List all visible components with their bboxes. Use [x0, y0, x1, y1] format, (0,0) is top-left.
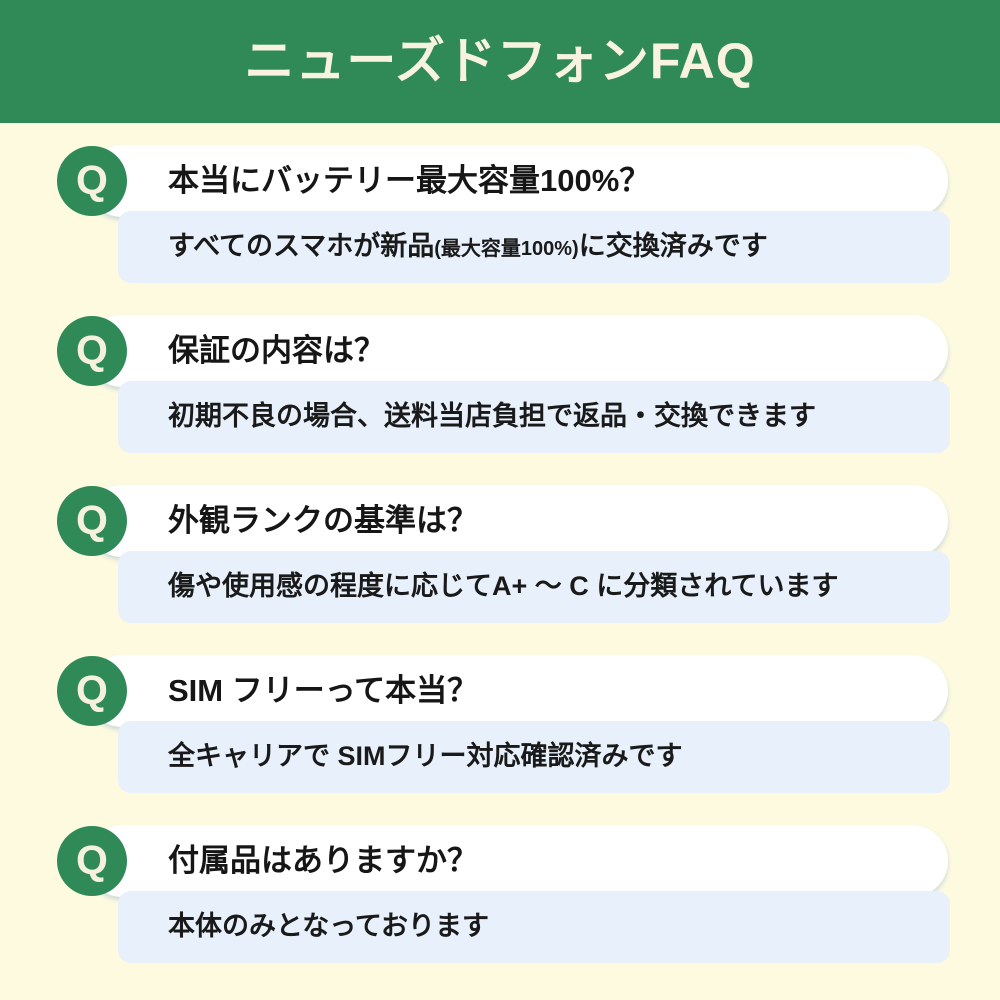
question-text: 本当にバッテリー最大容量100%？	[168, 164, 650, 198]
question-badge-icon: Q	[57, 146, 127, 216]
question-badge-letter: Q	[76, 160, 108, 201]
faq-item[interactable]: 本体のみとなっております付属品はありますか？Q	[0, 803, 1000, 973]
page-header: ニューズドフォンFAQ	[0, 0, 1000, 123]
faq-item[interactable]: 初期不良の場合、送料当店負担で返品・交換できます保証の内容は？Q	[0, 293, 1000, 463]
question-card[interactable]: SIM フリーって本当？	[86, 655, 948, 727]
faq-item[interactable]: すべてのスマホが新品(最大容量100%)に交換済みです本当にバッテリー最大容量1…	[0, 123, 1000, 293]
answer-segment: 傷や使用感の程度に応じてA+ 〜 C に分類されています	[168, 571, 838, 601]
question-badge-letter: Q	[76, 840, 108, 881]
answer-text: 本体のみとなっております	[168, 912, 489, 942]
question-badge-icon: Q	[57, 656, 127, 726]
question-text: 保証の内容は？	[168, 334, 385, 368]
answer-card: 全キャリアで SIMフリー対応確認済みです	[118, 721, 950, 793]
answer-card: すべてのスマホが新品(最大容量100%)に交換済みです	[118, 211, 950, 283]
answer-text: 傷や使用感の程度に応じてA+ 〜 C に分類されています	[168, 572, 838, 602]
answer-card: 初期不良の場合、送料当店負担で返品・交換できます	[118, 381, 950, 453]
answer-text: すべてのスマホが新品(最大容量100%)に交換済みです	[168, 232, 768, 262]
answer-segment: すべてのスマホが新品	[168, 231, 434, 261]
question-badge-icon: Q	[57, 826, 127, 896]
faq-item[interactable]: 全キャリアで SIMフリー対応確認済みですSIM フリーって本当？Q	[0, 633, 1000, 803]
question-card[interactable]: 保証の内容は？	[86, 315, 948, 387]
question-text: 付属品はありますか？	[168, 844, 478, 878]
question-text: SIM フリーって本当？	[168, 674, 478, 708]
answer-card: 傷や使用感の程度に応じてA+ 〜 C に分類されています	[118, 551, 950, 623]
answer-segment: 初期不良の場合、送料当店負担で返品・交換できます	[168, 401, 816, 431]
question-badge-icon: Q	[57, 486, 127, 556]
answer-segment: 本体のみとなっております	[168, 911, 489, 941]
answer-segment: に交換済みです	[579, 231, 768, 261]
question-card[interactable]: 外観ランクの基準は？	[86, 485, 948, 557]
question-text: 外観ランクの基準は？	[168, 504, 478, 538]
question-card[interactable]: 付属品はありますか？	[86, 825, 948, 897]
question-badge-icon: Q	[57, 316, 127, 386]
answer-text: 初期不良の場合、送料当店負担で返品・交換できます	[168, 402, 816, 432]
answer-text: 全キャリアで SIMフリー対応確認済みです	[168, 742, 683, 772]
answer-segment: 全キャリアで SIMフリー対応確認済みです	[168, 741, 683, 771]
faq-item[interactable]: 傷や使用感の程度に応じてA+ 〜 C に分類されています外観ランクの基準は？Q	[0, 463, 1000, 633]
answer-note: (最大容量100%)	[434, 238, 578, 260]
faq-list: すべてのスマホが新品(最大容量100%)に交換済みです本当にバッテリー最大容量1…	[0, 123, 1000, 973]
question-badge-letter: Q	[76, 500, 108, 541]
answer-card: 本体のみとなっております	[118, 891, 950, 963]
question-badge-letter: Q	[76, 670, 108, 711]
page-title: ニューズドフォンFAQ	[244, 36, 755, 86]
question-badge-letter: Q	[76, 330, 108, 371]
question-card[interactable]: 本当にバッテリー最大容量100%？	[86, 145, 948, 217]
